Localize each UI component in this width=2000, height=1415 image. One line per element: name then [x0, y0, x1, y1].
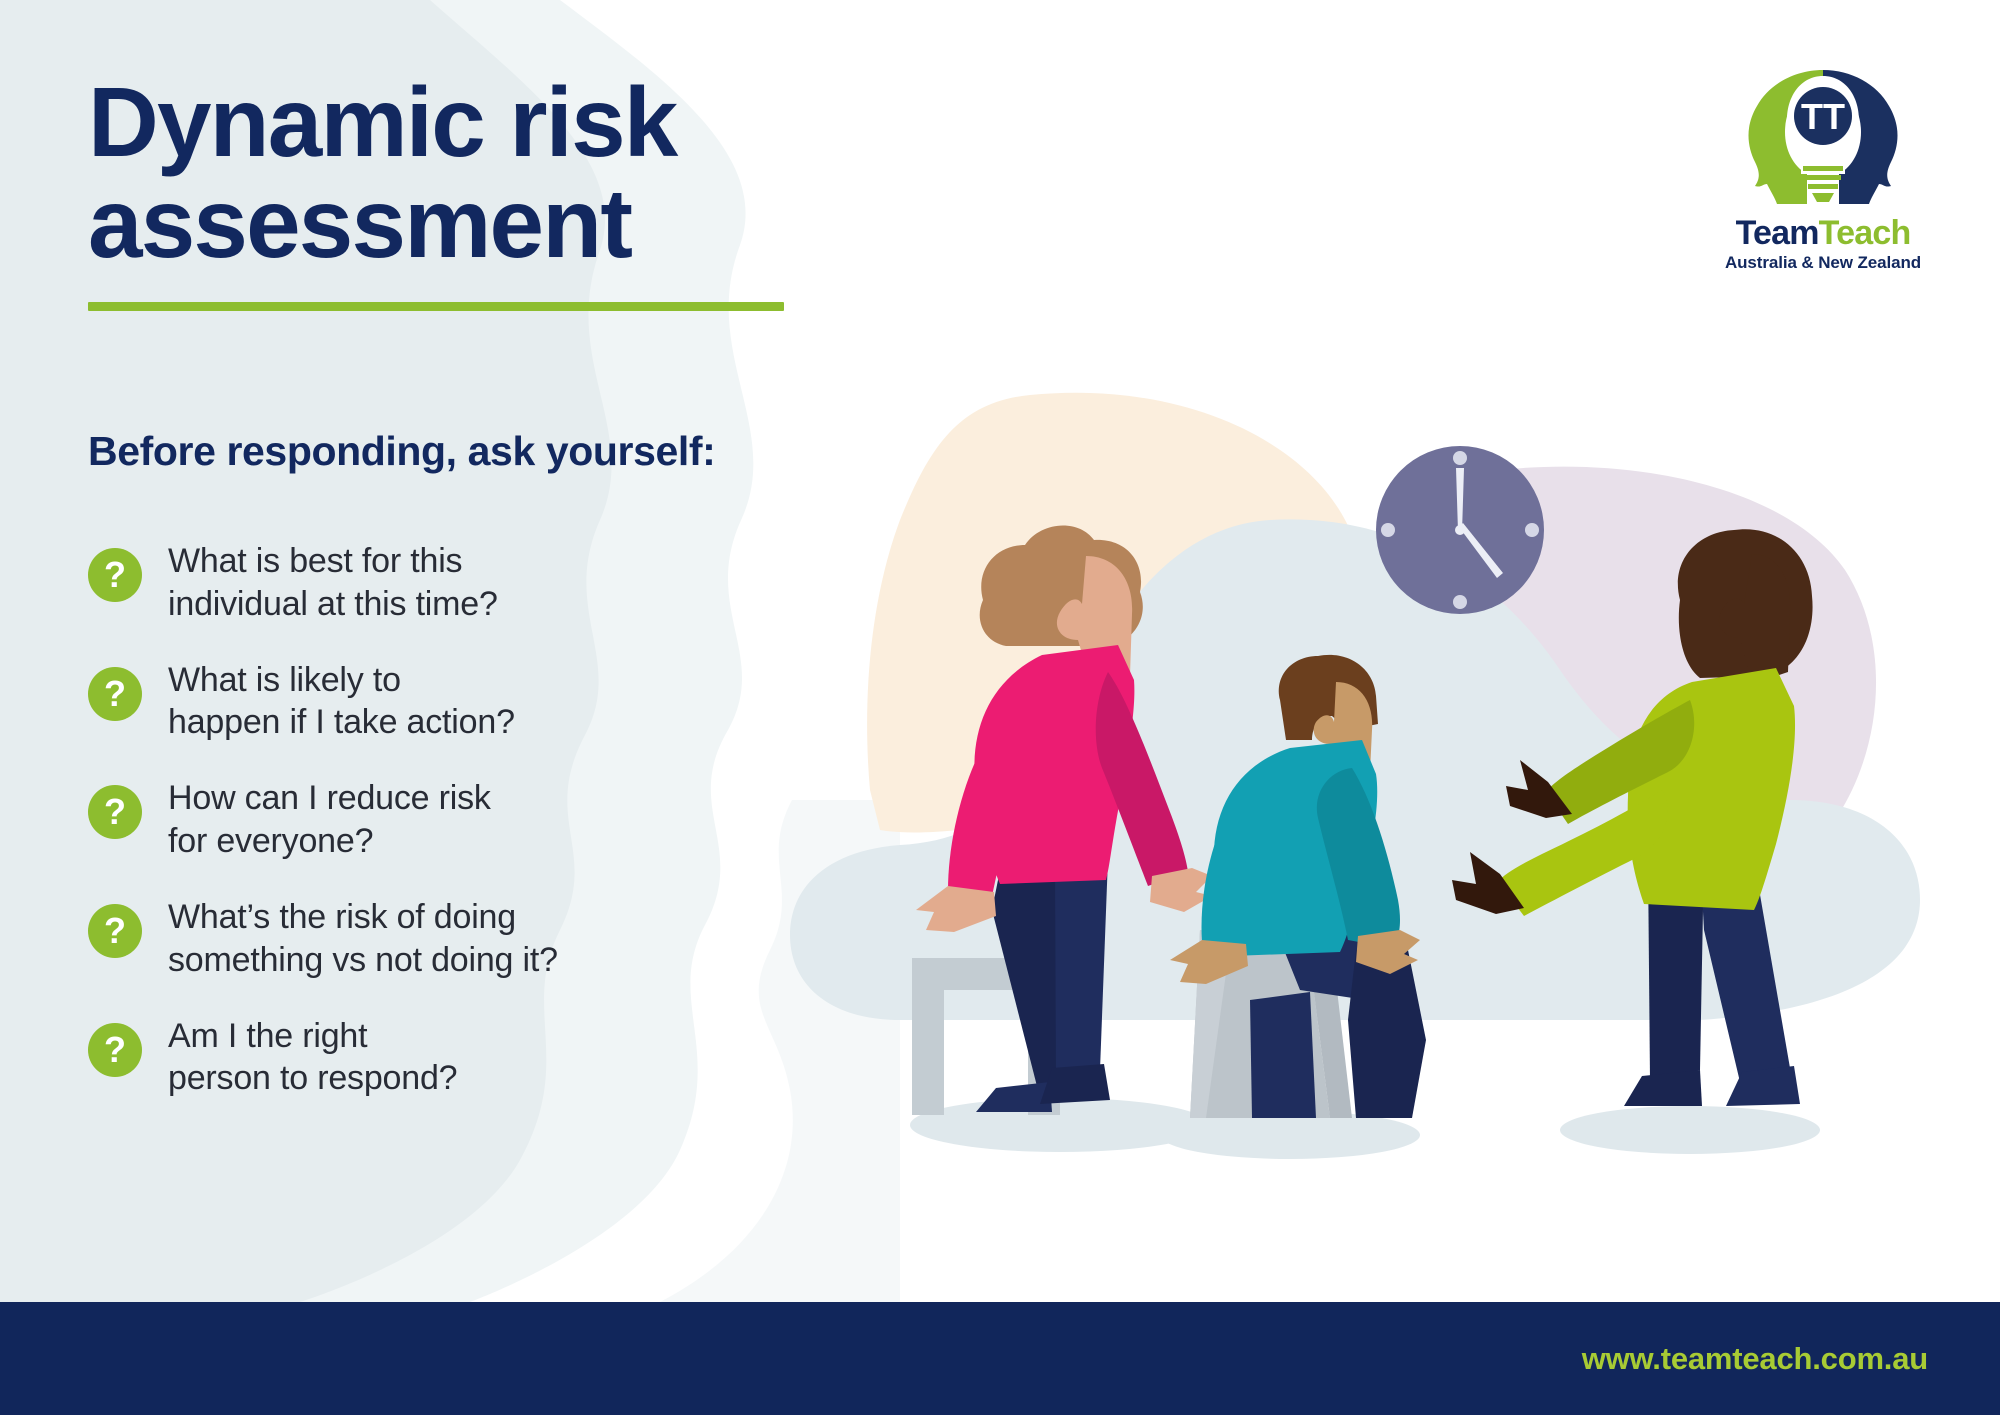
question-text: How can I reduce risk for everyone?: [168, 777, 491, 863]
question-mark-icon: ?: [88, 667, 142, 721]
logo-region-label: Australia & New Zealand: [1698, 253, 1948, 273]
list-item: ? What’s the risk of doing something vs …: [88, 896, 788, 982]
question-mark-icon: ?: [88, 904, 142, 958]
question-text: Am I the right person to respond?: [168, 1015, 457, 1101]
title-underline-rule: [88, 302, 784, 311]
page-title-line-2: assessment: [88, 168, 631, 278]
question-list: ? What is best for this individual at th…: [88, 540, 788, 1133]
teamteach-heads-lightbulb-logo: TT: [1733, 62, 1913, 212]
question-mark-icon: ?: [88, 1023, 142, 1077]
question-text: What is likely to happen if I take actio…: [168, 659, 515, 745]
list-item: ? What is likely to happen if I take act…: [88, 659, 788, 745]
list-item: ? Am I the right person to respond?: [88, 1015, 788, 1101]
page-title-line-1: Dynamic risk: [88, 67, 677, 177]
question-mark-icon: ?: [88, 548, 142, 602]
list-item: ? What is best for this individual at th…: [88, 540, 788, 626]
question-text: What’s the risk of doing something vs no…: [168, 896, 558, 982]
logo-word-teach: Teach: [1819, 214, 1911, 252]
logo-wordmark: TeamTeach: [1698, 216, 1948, 250]
subheading: Before responding, ask yourself:: [88, 428, 715, 475]
website-url-link[interactable]: www.teamteach.com.au: [1582, 1341, 1928, 1377]
list-item: ? How can I reduce risk for everyone?: [88, 777, 788, 863]
teamteach-logo: TT TeamTeach Australia & New Zealand: [1698, 62, 1948, 273]
logo-word-team: Team: [1736, 214, 1819, 252]
page-title: Dynamic riskassessment: [88, 72, 848, 274]
footer-bar: www.teamteach.com.au: [0, 1302, 2000, 1415]
question-text: What is best for this individual at this…: [168, 540, 498, 626]
poster-root: Dynamic riskassessment Before responding…: [0, 0, 2000, 1415]
logo-monogram: TT: [1801, 96, 1845, 137]
question-mark-icon: ?: [88, 785, 142, 839]
title-block: Dynamic riskassessment: [88, 72, 848, 311]
